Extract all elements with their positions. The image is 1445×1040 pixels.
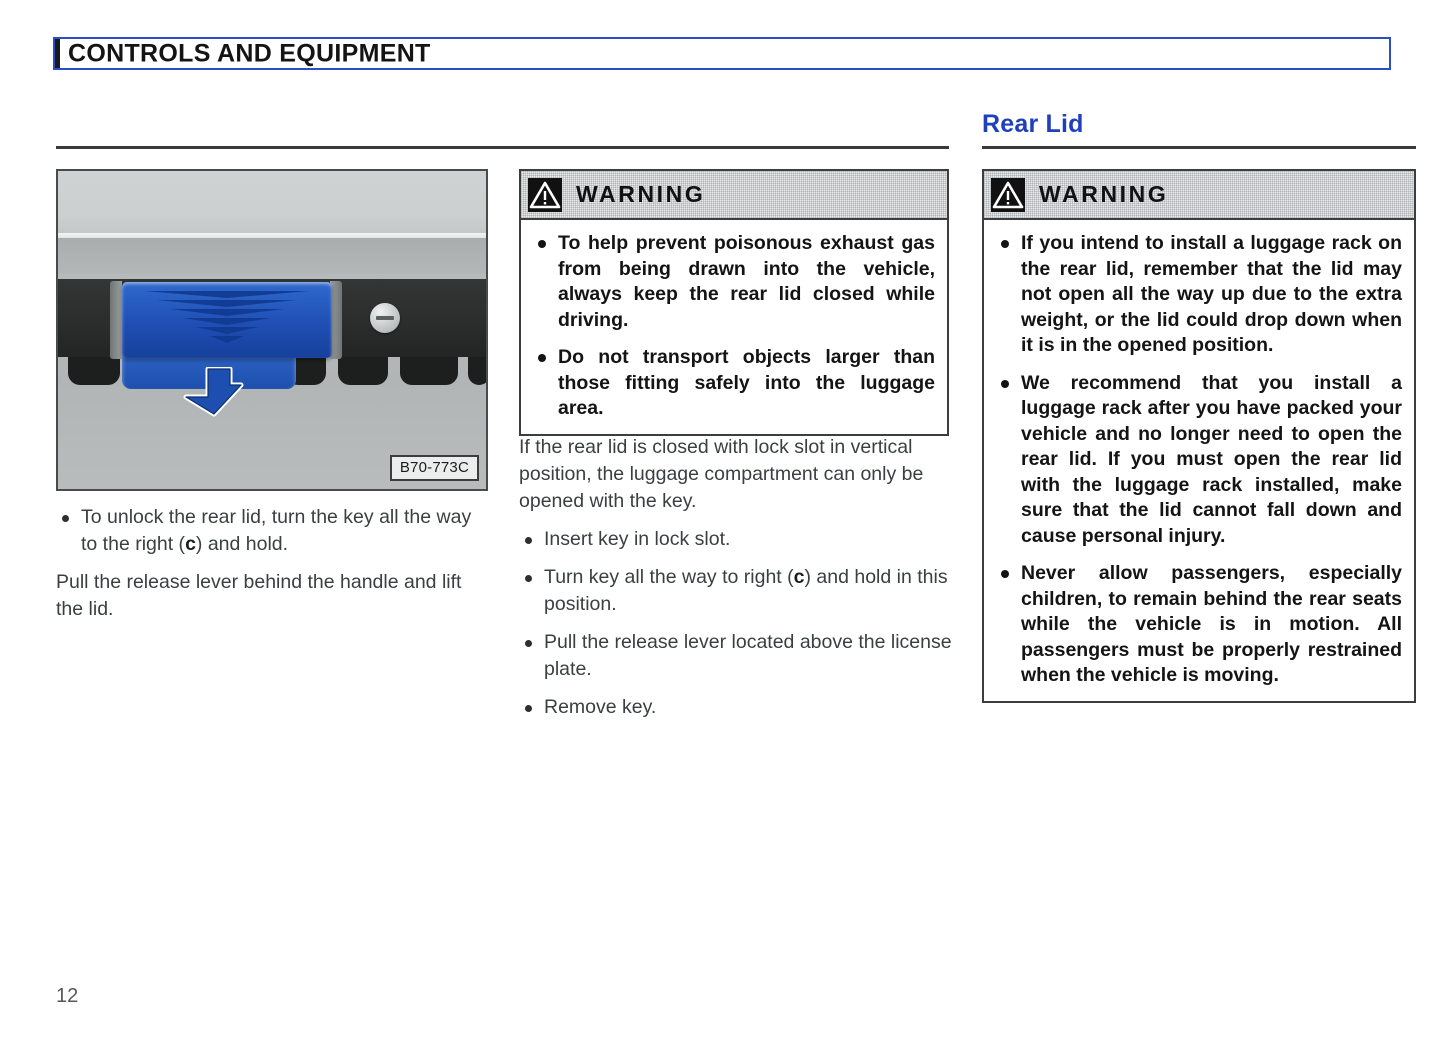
figure-rear-lid-handle: B70-773C bbox=[56, 169, 488, 491]
column-divider-rule-left bbox=[56, 146, 949, 149]
key-position-label: c bbox=[185, 533, 196, 555]
warning-bullet-list: To help prevent poisonous exhaust gas fr… bbox=[532, 231, 935, 422]
list-item: Insert key in lock slot. bbox=[519, 526, 953, 553]
warning-item-text: Do not transport objects larger than tho… bbox=[558, 346, 935, 419]
warning-item-text: If you intend to install a luggage rack … bbox=[1021, 232, 1402, 356]
photo-trim-notch bbox=[338, 357, 388, 385]
list-item: Do not transport objects larger than tho… bbox=[532, 345, 935, 422]
photo-handle-chevrons bbox=[122, 289, 332, 351]
warning-label: WARNING bbox=[1039, 181, 1168, 208]
bullet-text-pre: Remove key. bbox=[544, 696, 656, 718]
warning-box-middle: WARNING To help prevent poisonous exhaus… bbox=[519, 169, 949, 436]
list-item: Pull the release lever located above the… bbox=[519, 629, 953, 683]
photo-handle-bezel-left bbox=[110, 281, 122, 359]
warning-triangle-icon bbox=[991, 178, 1025, 212]
left-column-paragraph: Pull the release lever behind the handle… bbox=[56, 569, 492, 623]
page-header-banner: CONTROLS AND EQUIPMENT bbox=[53, 37, 1391, 70]
list-item: Turn key all the way to right (c) and ho… bbox=[519, 564, 953, 618]
middle-column-bullet-list: Insert key in lock slot. Turn key all th… bbox=[519, 526, 953, 721]
warning-body: If you intend to install a luggage rack … bbox=[984, 220, 1414, 701]
left-column-text: To unlock the rear lid, turn the key all… bbox=[56, 504, 492, 623]
photo-pull-arrow-icon bbox=[178, 367, 246, 419]
bullet-text-pre: Turn key all the way to right ( bbox=[544, 566, 794, 588]
warning-body: To help prevent poisonous exhaust gas fr… bbox=[521, 220, 947, 434]
photo-trim-notch bbox=[468, 357, 488, 385]
list-item: If you intend to install a luggage rack … bbox=[995, 231, 1402, 359]
column-divider-rule-right bbox=[982, 146, 1416, 149]
photo-bumper-shadow bbox=[58, 238, 486, 274]
warning-item-text: We recommend that you install a luggage … bbox=[1021, 372, 1402, 547]
page-title: CONTROLS AND EQUIPMENT bbox=[68, 39, 431, 68]
warning-triangle-icon bbox=[528, 178, 562, 212]
key-position-label: c bbox=[794, 566, 805, 588]
figure-id-label: B70-773C bbox=[390, 455, 479, 481]
warning-item-text: Never allow passengers, especially child… bbox=[1021, 562, 1402, 686]
photo-lock-slot bbox=[376, 316, 394, 320]
list-item: We recommend that you install a luggage … bbox=[995, 371, 1402, 550]
list-item: To help prevent poisonous exhaust gas fr… bbox=[532, 231, 935, 333]
bullet-text-pre: Insert key in lock slot. bbox=[544, 528, 730, 550]
left-column-bullet-list: To unlock the rear lid, turn the key all… bbox=[56, 504, 492, 558]
warning-box-right: WARNING If you intend to install a lugga… bbox=[982, 169, 1416, 703]
photo-lock-cylinder bbox=[370, 303, 400, 333]
middle-column-text: If the rear lid is closed with lock slot… bbox=[519, 434, 953, 721]
middle-column-paragraph: If the rear lid is closed with lock slot… bbox=[519, 434, 953, 515]
warning-header: WARNING bbox=[521, 171, 947, 220]
page-number: 12 bbox=[56, 985, 78, 1008]
warning-label: WARNING bbox=[576, 181, 705, 208]
header-left-bar bbox=[55, 39, 60, 68]
warning-header: WARNING bbox=[984, 171, 1414, 220]
photo-trim-notch bbox=[400, 357, 458, 385]
figure-photo bbox=[58, 171, 486, 489]
warning-bullet-list: If you intend to install a luggage rack … bbox=[995, 231, 1402, 689]
list-item: Remove key. bbox=[519, 694, 953, 721]
bullet-text-pre: Pull the release lever located above the… bbox=[544, 631, 952, 680]
bullet-text-post: ) and hold. bbox=[196, 533, 288, 555]
section-heading-rear-lid: Rear Lid bbox=[982, 110, 1084, 138]
photo-bumper-band bbox=[58, 171, 486, 233]
photo-trim-notch bbox=[68, 357, 120, 385]
warning-item-text: To help prevent poisonous exhaust gas fr… bbox=[558, 232, 935, 331]
list-item: Never allow passengers, especially child… bbox=[995, 561, 1402, 689]
list-item: To unlock the rear lid, turn the key all… bbox=[56, 504, 492, 558]
